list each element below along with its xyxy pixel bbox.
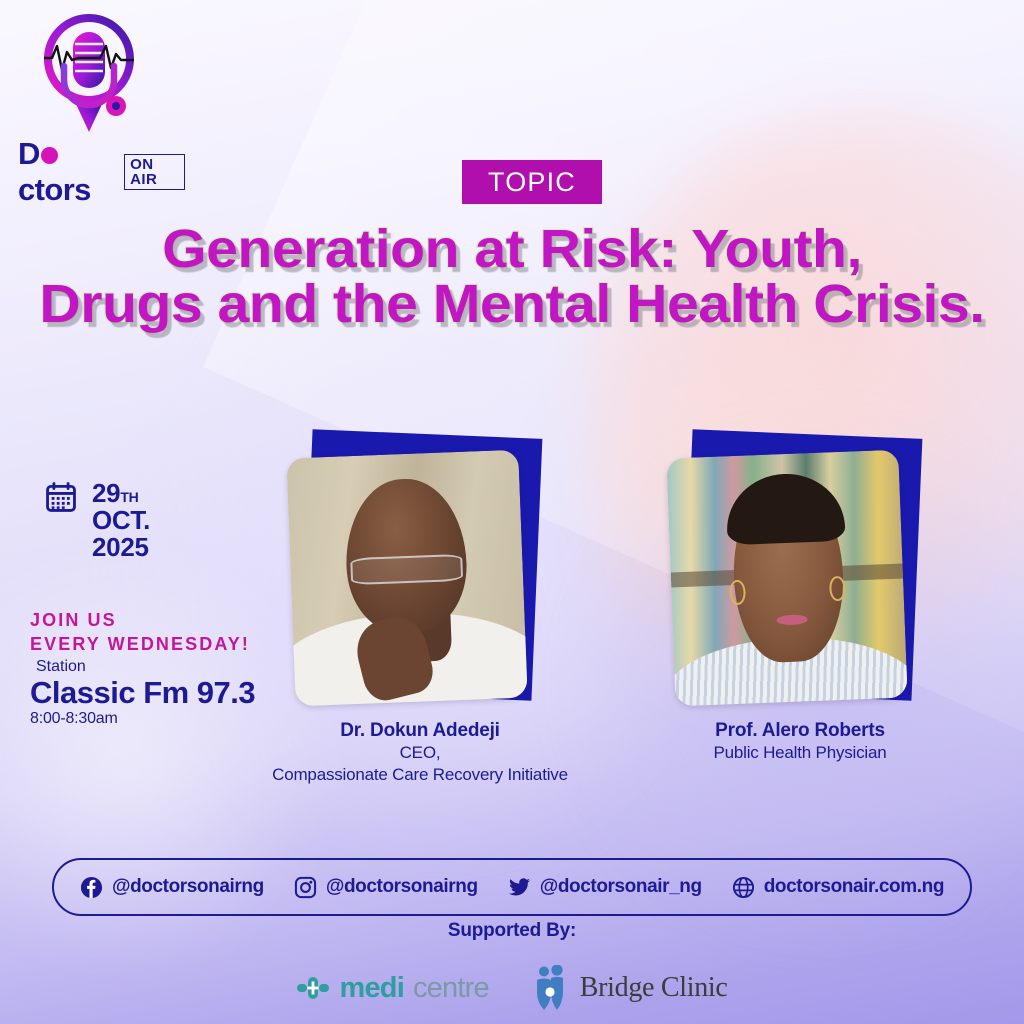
- join-line-1: JOIN US: [30, 608, 250, 632]
- station-time: 8:00-8:30am: [30, 710, 255, 728]
- date-day-suffix: TH: [120, 489, 138, 505]
- facebook-icon: [80, 876, 103, 899]
- supported-by-heading: Supported By:: [0, 920, 1024, 942]
- social-handle-twitter: @doctorsonair_ng: [540, 876, 702, 898]
- station-label: Station: [30, 658, 255, 676]
- event-date: 29TH OCT. 2025: [44, 480, 150, 560]
- headline-line-2: Drugs and the Mental Health Crisis.: [0, 277, 1024, 332]
- sponsor-logos: medicentre Bridge Clinic: [0, 965, 1024, 1011]
- event-date-text: 29TH OCT. 2025: [92, 480, 150, 560]
- logo-badge-onair: ON AIR: [124, 154, 185, 190]
- date-month: OCT.: [92, 507, 150, 534]
- podcast-mic-stethoscope-icon: [28, 8, 150, 133]
- calendar-icon: [44, 480, 78, 514]
- globe-icon: [732, 876, 755, 899]
- date-day: 29: [92, 478, 120, 508]
- social-handle-facebook: @doctorsonairng: [112, 876, 264, 898]
- speaker-role-2a: Public Health Physician: [665, 742, 935, 764]
- sponsor-medicentre: medicentre: [296, 972, 488, 1005]
- medicentre-capsule-icon: [296, 975, 330, 1001]
- sponsor-bridge-clinic: Bridge Clinic: [531, 965, 728, 1011]
- social-links-bar: @doctorsonairng @doctorsonairng @doctors…: [52, 858, 972, 916]
- speaker-photo-2: [666, 450, 907, 707]
- speaker-photo-frame-1: [285, 428, 550, 708]
- speaker-photo-frame-2: [665, 428, 930, 708]
- social-link-website[interactable]: doctorsonair.com.ng: [732, 876, 944, 899]
- social-handle-website: doctorsonair.com.ng: [764, 876, 944, 898]
- sponsor-bridge-clinic-name: Bridge Clinic: [580, 972, 728, 1004]
- instagram-icon: [294, 876, 317, 899]
- twitter-icon: [508, 876, 531, 899]
- page-title: Generation at Risk: Youth, Drugs and the…: [0, 222, 1024, 332]
- headline-line-1: Generation at Risk: Youth,: [162, 219, 862, 279]
- bridge-clinic-family-icon: [531, 965, 571, 1011]
- speaker-role-1b: Compassionate Care Recovery Initiative: [210, 764, 630, 786]
- speaker-card-1: Dr. Dokun Adedeji CEO, Compassionate Car…: [285, 428, 555, 786]
- social-link-facebook[interactable]: @doctorsonairng: [80, 876, 264, 899]
- speaker-name-2: Prof. Alero Roberts: [665, 720, 935, 742]
- brand-logo: Dctors ON AIR: [10, 8, 185, 173]
- speaker-card-2: Prof. Alero Roberts Public Health Physic…: [665, 428, 935, 764]
- speaker-photo-1: [286, 450, 527, 707]
- station-name: Classic Fm 97.3: [30, 676, 255, 710]
- logo-word-doctors: Dctors: [18, 136, 120, 208]
- sponsor-medicentre-name-a: medi: [339, 972, 404, 1005]
- topic-badge-label: TOPIC: [488, 167, 576, 198]
- logo-wordmark: Dctors ON AIR: [18, 136, 185, 208]
- logo-o-dot: [41, 147, 58, 164]
- station-info: Station Classic Fm 97.3 8:00-8:30am: [30, 658, 255, 728]
- social-handle-instagram: @doctorsonairng: [326, 876, 478, 898]
- social-link-instagram[interactable]: @doctorsonairng: [294, 876, 478, 899]
- speaker-name-1: Dr. Dokun Adedeji: [285, 720, 555, 742]
- date-year: 2025: [92, 534, 150, 561]
- join-line-2: EVERY WEDNESDAY!: [30, 632, 250, 656]
- join-us-callout: JOIN US EVERY WEDNESDAY!: [30, 608, 250, 657]
- sponsor-medicentre-name-b: centre: [413, 972, 489, 1005]
- topic-badge: TOPIC: [462, 160, 602, 204]
- social-link-twitter[interactable]: @doctorsonair_ng: [508, 876, 702, 899]
- speaker-role-1a: CEO,: [285, 742, 555, 764]
